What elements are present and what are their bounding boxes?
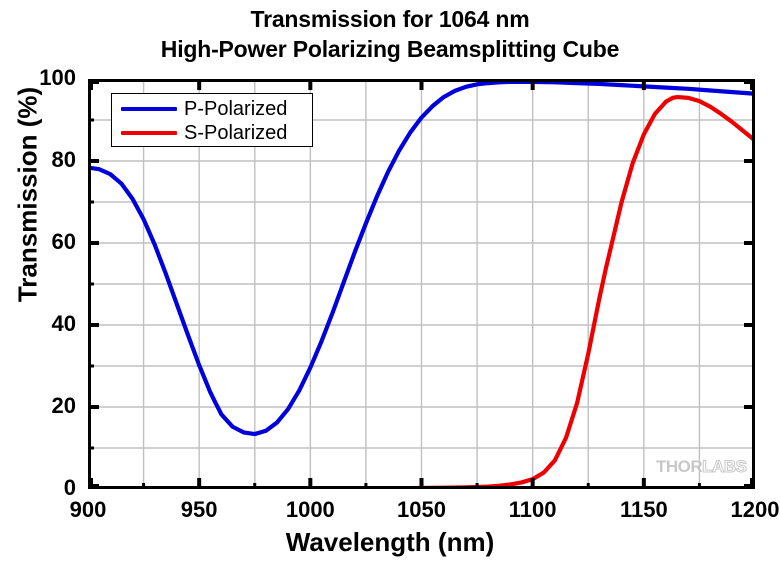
x-tick-label: 1150 bbox=[594, 497, 694, 523]
chart-figure: Transmission for 1064 nm High-Power Pola… bbox=[0, 0, 780, 575]
y-tick-label: 0 bbox=[64, 475, 76, 501]
legend-item-p-polarized[interactable]: P-Polarized bbox=[112, 96, 312, 121]
y-tick-label: 20 bbox=[52, 393, 76, 419]
watermark-labs-text: LABS bbox=[702, 457, 746, 476]
legend-swatch-s-polarized bbox=[121, 131, 177, 135]
chart-title-line-1: Transmission for 1064 nm bbox=[0, 4, 780, 34]
x-tick-label: 1000 bbox=[260, 497, 360, 523]
legend-label-s-polarized: S-Polarized bbox=[184, 123, 287, 143]
chart-title: Transmission for 1064 nm High-Power Pola… bbox=[0, 4, 780, 64]
y-tick-label: 60 bbox=[52, 229, 76, 255]
x-tick-label: 1100 bbox=[483, 497, 583, 523]
legend-swatch-p-polarized bbox=[121, 107, 177, 111]
legend-label-p-polarized: P-Polarized bbox=[184, 99, 287, 119]
chart-title-line-2: High-Power Polarizing Beamsplitting Cube bbox=[0, 34, 780, 64]
watermark-thor-text: THOR bbox=[656, 457, 702, 476]
x-tick-label: 1050 bbox=[372, 497, 472, 523]
thorlabs-watermark: THORLABS bbox=[656, 458, 746, 476]
legend-item-s-polarized[interactable]: S-Polarized bbox=[112, 120, 312, 145]
chart-legend: P-Polarized S-Polarized bbox=[111, 93, 313, 147]
y-axis-label: Transmission (%) bbox=[13, 35, 44, 355]
x-tick-label: 900 bbox=[38, 497, 138, 523]
x-tick-label: 1200 bbox=[705, 497, 780, 523]
y-tick-label: 80 bbox=[52, 147, 76, 173]
x-tick-label: 950 bbox=[149, 497, 249, 523]
y-tick-label: 100 bbox=[39, 65, 76, 91]
y-tick-label: 40 bbox=[52, 311, 76, 337]
x-axis-label: Wavelength (nm) bbox=[0, 527, 780, 558]
